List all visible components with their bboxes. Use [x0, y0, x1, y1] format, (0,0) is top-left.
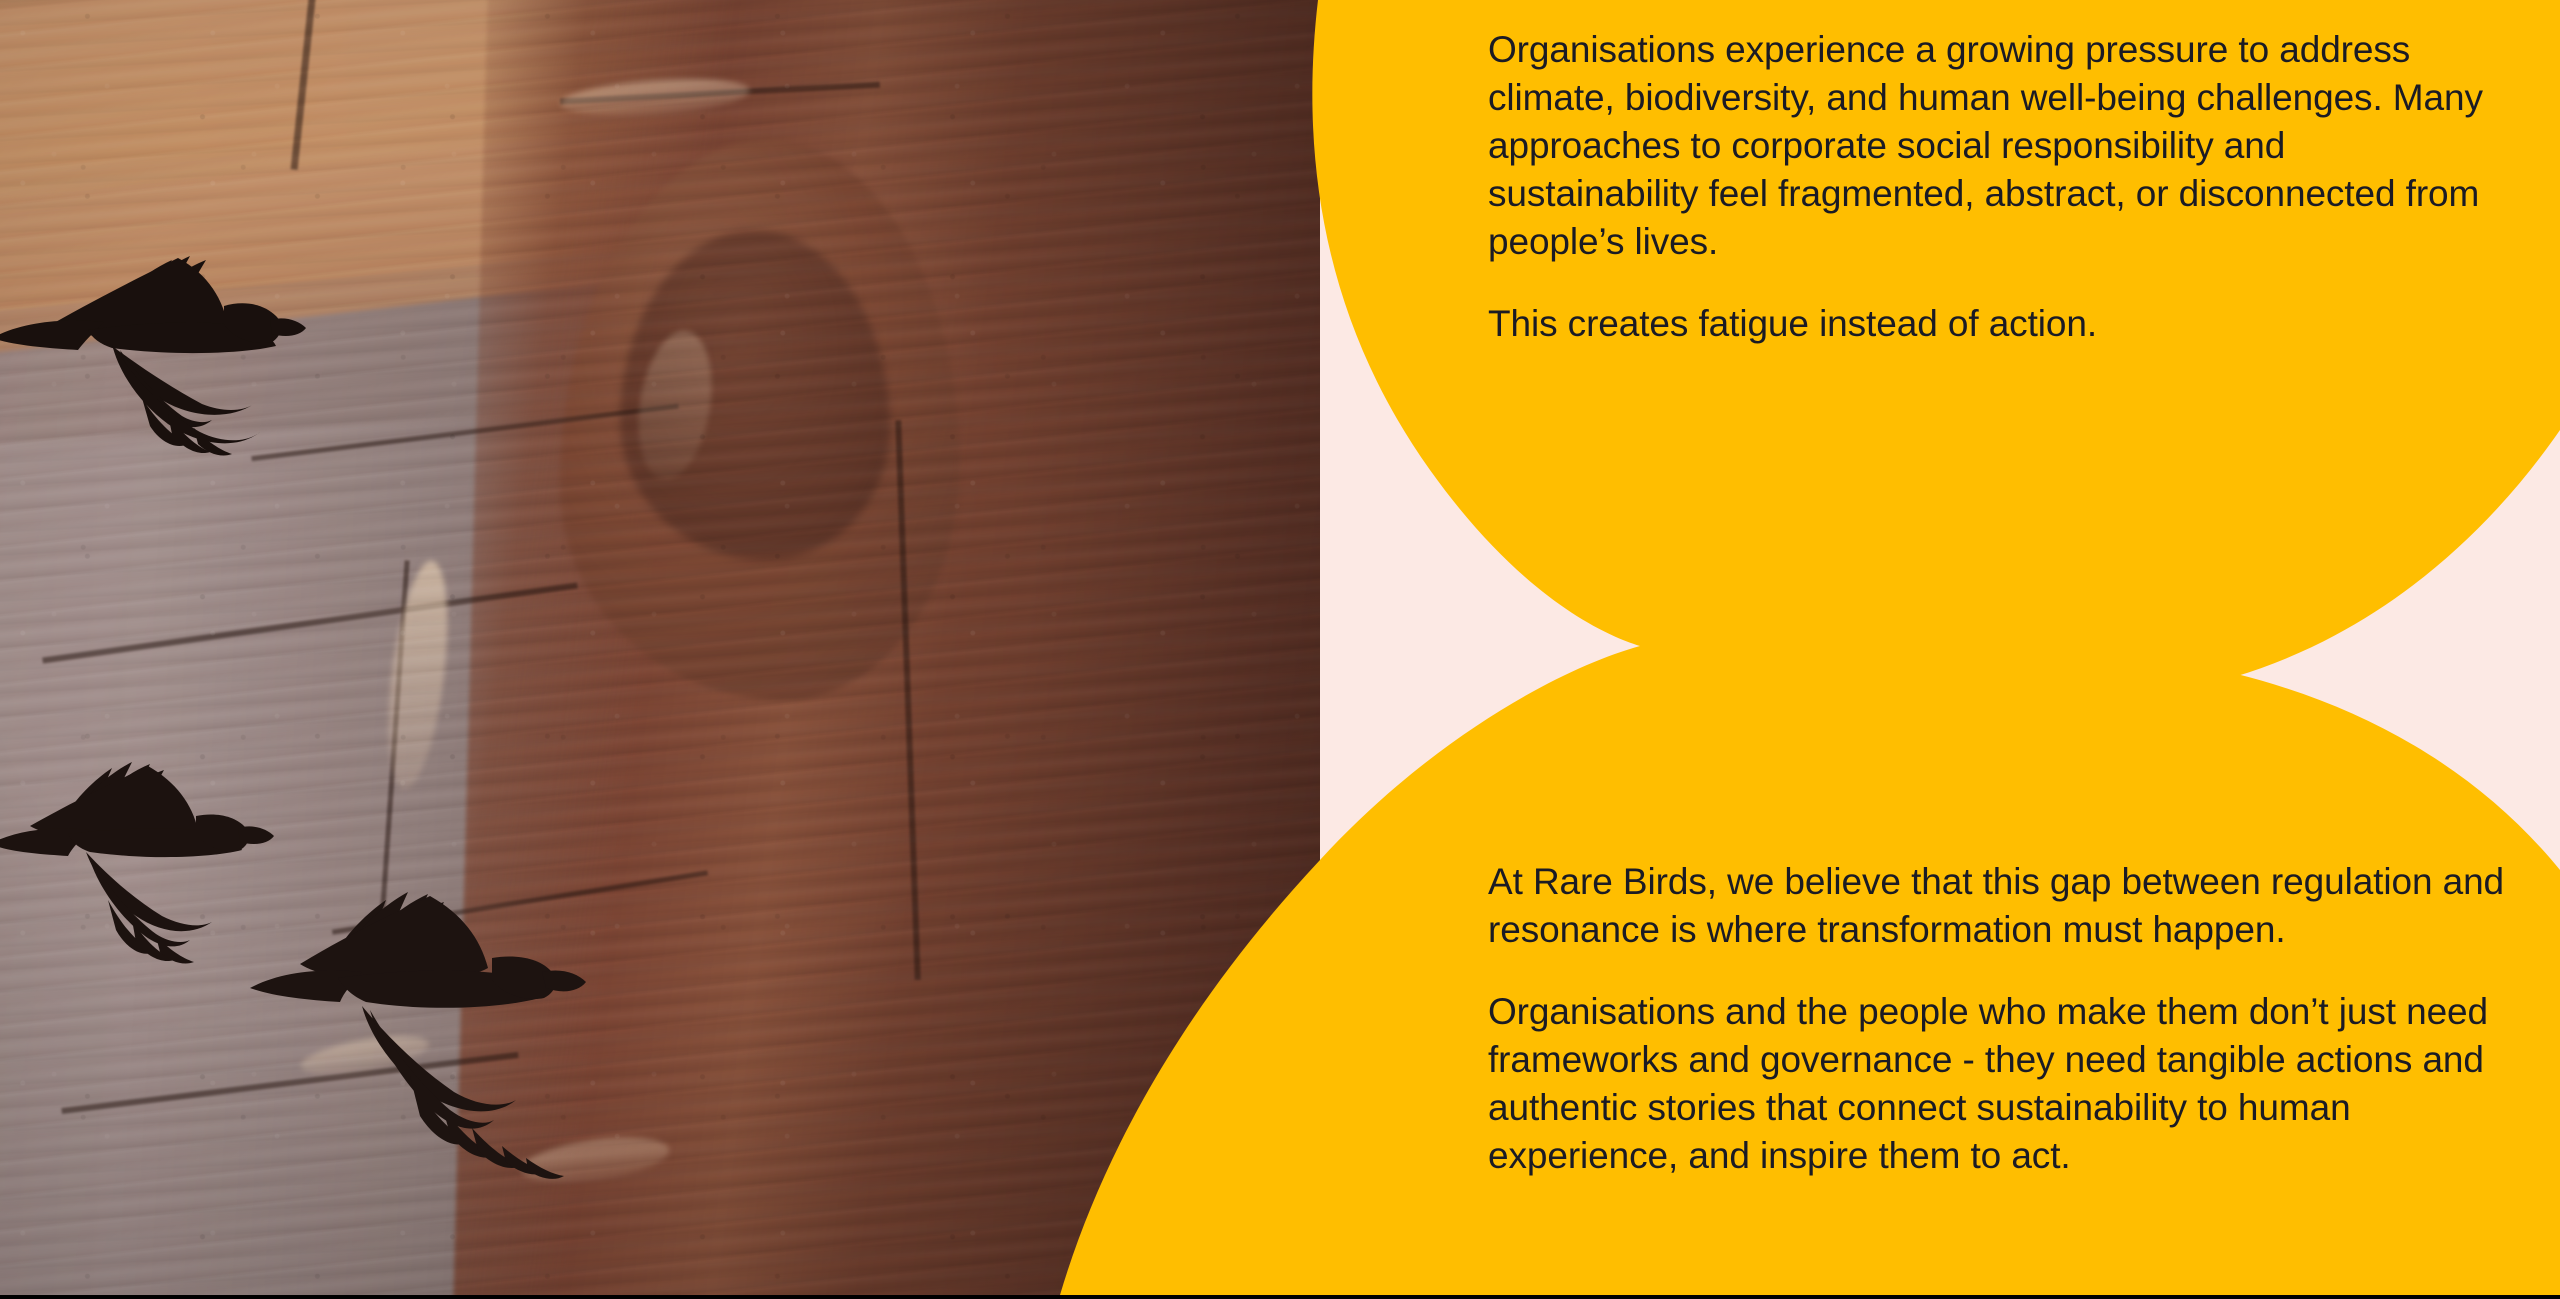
slide-canvas: Organisations experience a growing press… [0, 0, 2560, 1299]
top-copy-block: Organisations experience a growing press… [1488, 26, 2498, 349]
bottom-bar [0, 1295, 2560, 1299]
raven-lower-left-icon [0, 740, 290, 970]
top-paragraph-1: Organisations experience a growing press… [1488, 26, 2498, 266]
bottom-paragraph-2: Organisations and the people who make th… [1488, 988, 2528, 1180]
bottom-paragraph-1: At Rare Birds, we believe that this gap … [1488, 858, 2528, 954]
bottom-copy-block: At Rare Birds, we believe that this gap … [1488, 858, 2528, 1181]
canyon-ravens-photo [0, 0, 1320, 1295]
top-paragraph-2: This creates fatigue instead of action. [1488, 300, 2498, 348]
raven-lower-centre-icon [250, 860, 620, 1180]
raven-upper-left-icon [0, 188, 312, 458]
